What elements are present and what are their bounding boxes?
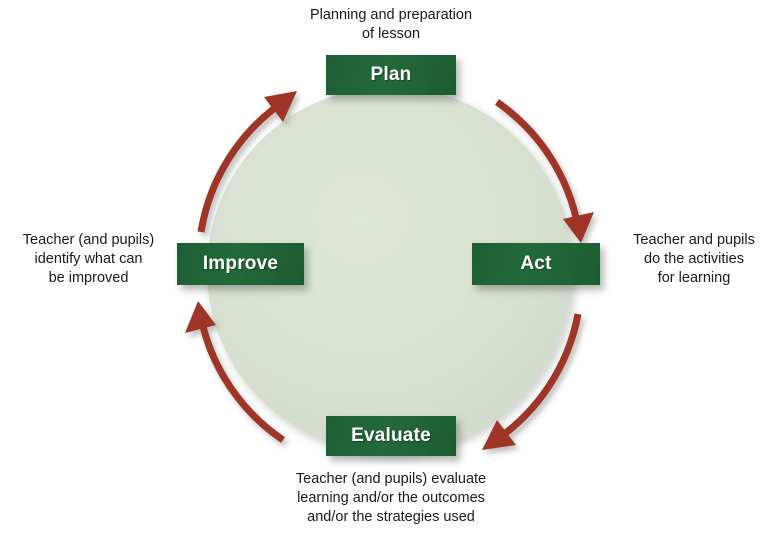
caption-plan: Planning and preparation of lesson — [273, 6, 509, 44]
stage-label-act: Act — [520, 253, 551, 275]
stage-box-act[interactable]: Act — [472, 243, 600, 285]
caption-improve: Teacher (and pupils) identify what can b… — [6, 231, 171, 288]
stage-box-improve[interactable]: Improve — [177, 243, 304, 285]
stage-label-plan: Plan — [371, 64, 412, 86]
caption-act: Teacher and pupils do the activities for… — [614, 231, 774, 288]
stage-label-evaluate: Evaluate — [351, 425, 431, 447]
caption-evaluate: Teacher (and pupils) evaluate learning a… — [266, 470, 516, 527]
stage-box-evaluate[interactable]: Evaluate — [326, 416, 456, 456]
cycle-diagram: Plan Act Evaluate Improve Planning and p… — [0, 0, 780, 546]
stage-box-plan[interactable]: Plan — [326, 55, 456, 95]
stage-label-improve: Improve — [203, 253, 278, 275]
